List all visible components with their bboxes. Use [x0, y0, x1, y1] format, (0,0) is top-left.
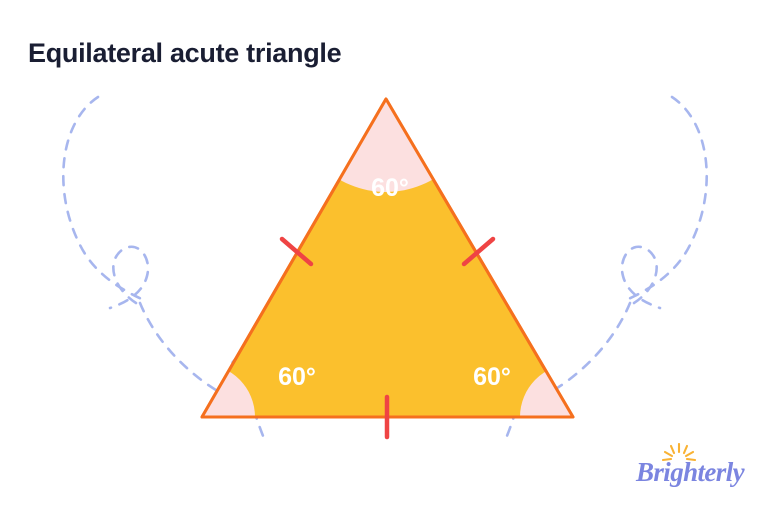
apex-angle-label: 60° — [371, 174, 409, 202]
brand-logo: Brighterly — [636, 446, 744, 486]
sunburst-icon — [662, 443, 696, 465]
bottom-right-angle-label: 60° — [473, 363, 511, 391]
diagram-canvas: Equilateral acute triangle — [0, 0, 768, 512]
bottom-left-angle-label: 60° — [278, 363, 316, 391]
triangle-figure: 60° 60° 60° — [0, 0, 768, 512]
